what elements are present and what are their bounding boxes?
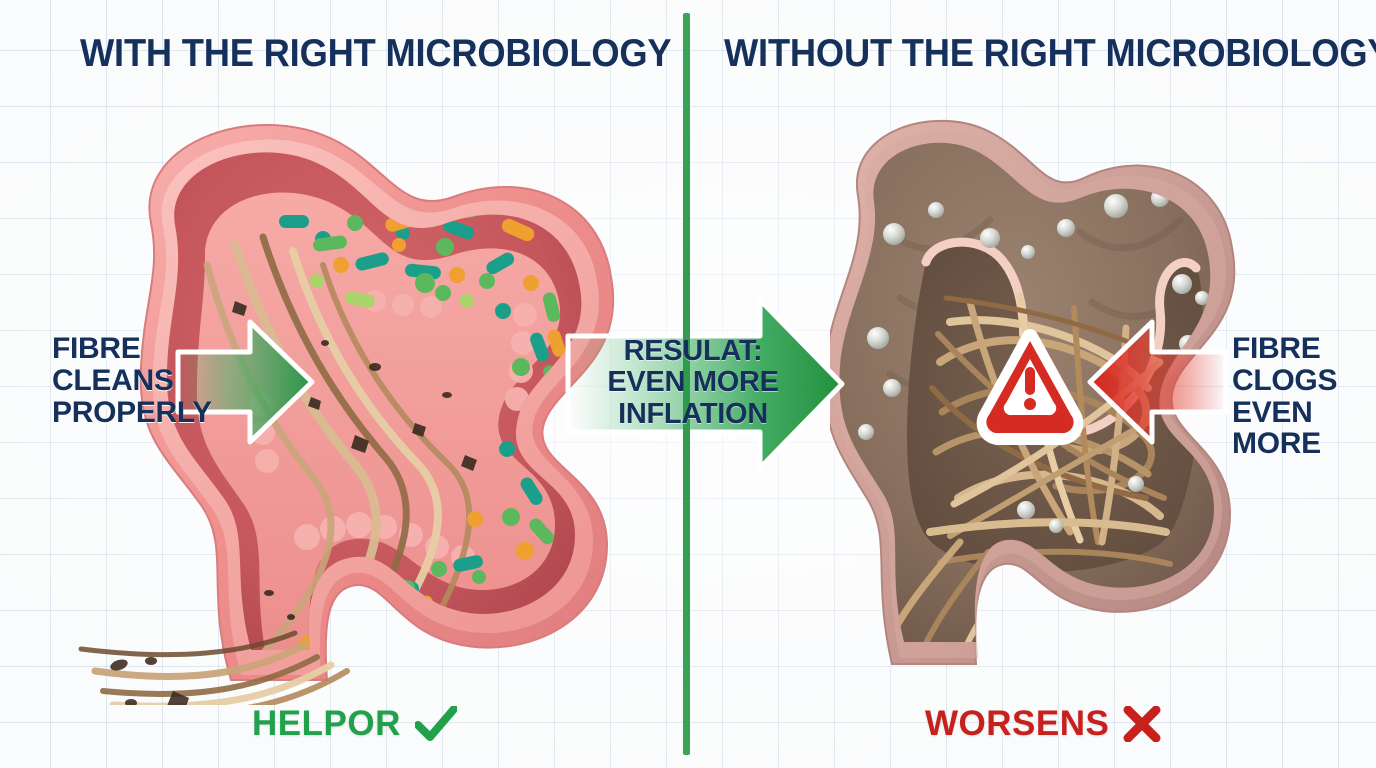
result-callout: RESULAT: EVEN MORE INFLATION — [598, 336, 788, 430]
right-verdict: WORSENS — [925, 704, 1161, 744]
callout-line-2: CLOGS EVEN — [1232, 365, 1376, 429]
callout-line-3: MORE — [1232, 428, 1376, 460]
left-panel-title: WITH THE RIGHT MICROBIOLOGY — [80, 32, 671, 76]
result-line-2: EVEN MORE — [598, 367, 788, 398]
cross-icon — [1123, 706, 1161, 742]
result-line-3: INFLATION — [598, 399, 788, 430]
clogged-intestine-illustration — [830, 112, 1260, 692]
callout-line-3: PROPERLY — [52, 397, 212, 429]
callout-line-1: FIBRE — [1232, 333, 1376, 365]
right-panel-title: WITHOUT THE RIGHT MICROBIOLOGY — [724, 32, 1376, 76]
callout-line-1: FIBRE — [52, 333, 212, 365]
left-verdict-label: HELPOR — [252, 704, 401, 744]
right-verdict-label: WORSENS — [925, 704, 1109, 744]
fibre-cleans-callout: FIBRE CLEANS PROPERLY — [52, 333, 212, 428]
left-verdict: HELPOR — [252, 704, 457, 744]
result-line-1: RESULAT: — [598, 336, 788, 367]
check-icon — [415, 706, 457, 742]
infographic-canvas: WITH THE RIGHT MICROBIOLOGY WITHOUT THE … — [0, 0, 1376, 768]
fibre-clogs-callout: FIBRE CLOGS EVEN MORE — [1232, 333, 1376, 460]
callout-line-2: CLEANS — [52, 365, 212, 397]
